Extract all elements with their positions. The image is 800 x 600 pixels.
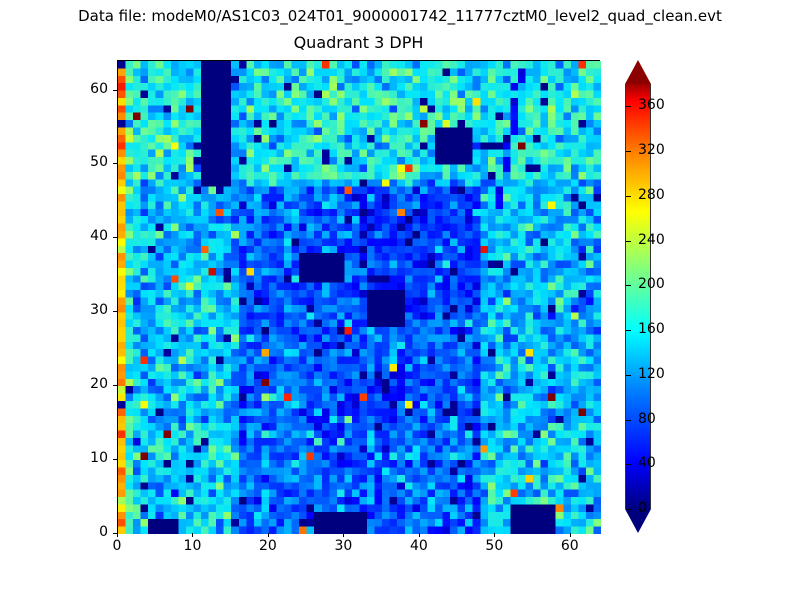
- y-tick-mark: [113, 311, 117, 312]
- colorbar-tick-mark: [626, 464, 631, 465]
- colorbar-over-arrow-icon: [625, 60, 651, 84]
- x-tick-mark: [117, 533, 118, 537]
- colorbar-tick-label: 0: [638, 500, 647, 516]
- colorbar-tick-mark: [626, 375, 631, 376]
- y-tick-label: 0: [68, 524, 108, 540]
- colorbar-tick-label: 120: [638, 366, 665, 382]
- colorbar-tick-label: 360: [638, 97, 665, 113]
- colorbar-tick-mark: [626, 106, 631, 107]
- y-tick-label: 40: [68, 228, 108, 244]
- heatmap-image[interactable]: [118, 61, 601, 534]
- colorbar-tick-label: 40: [638, 455, 656, 471]
- y-tick-label: 60: [68, 81, 108, 97]
- y-tick-label: 50: [68, 154, 108, 170]
- x-tick-label: 0: [97, 538, 137, 554]
- colorbar-tick-mark: [626, 196, 631, 197]
- x-tick-mark: [268, 533, 269, 537]
- y-tick-mark: [113, 90, 117, 91]
- colorbar-tick-label: 80: [638, 411, 656, 427]
- y-tick-mark: [113, 385, 117, 386]
- colorbar-tick-label: 200: [638, 276, 665, 292]
- figure-canvas: Data file: modeM0/AS1C03_024T01_90000017…: [0, 0, 800, 600]
- colorbar-tick-mark: [626, 420, 631, 421]
- x-tick-label: 20: [248, 538, 288, 554]
- x-tick-label: 30: [323, 538, 363, 554]
- colorbar-tick-mark: [626, 285, 631, 286]
- figure-suptitle: Data file: modeM0/AS1C03_024T01_90000017…: [0, 7, 800, 25]
- x-tick-label: 10: [172, 538, 212, 554]
- colorbar-tick-mark: [626, 241, 631, 242]
- y-tick-label: 30: [68, 302, 108, 318]
- y-tick-label: 10: [68, 450, 108, 466]
- x-tick-mark: [419, 533, 420, 537]
- y-tick-mark: [113, 533, 117, 534]
- x-tick-mark: [343, 533, 344, 537]
- y-tick-mark: [113, 237, 117, 238]
- y-tick-mark: [113, 459, 117, 460]
- page-title: Quadrant 3 DPH: [117, 33, 600, 52]
- colorbar-tick-label: 240: [638, 232, 665, 248]
- colorbar-tick-label: 320: [638, 142, 665, 158]
- colorbar-tick-mark: [626, 151, 631, 152]
- colorbar-tick-mark: [626, 509, 631, 510]
- x-tick-mark: [494, 533, 495, 537]
- y-tick-label: 20: [68, 376, 108, 392]
- x-tick-label: 60: [550, 538, 590, 554]
- y-tick-mark: [113, 163, 117, 164]
- colorbar-tick-label: 280: [638, 187, 665, 203]
- x-tick-mark: [570, 533, 571, 537]
- x-tick-mark: [192, 533, 193, 537]
- x-tick-label: 50: [474, 538, 514, 554]
- x-tick-label: 40: [399, 538, 439, 554]
- heatmap-axes[interactable]: [117, 60, 600, 533]
- colorbar-tick-mark: [626, 330, 631, 331]
- colorbar-tick-label: 160: [638, 321, 665, 337]
